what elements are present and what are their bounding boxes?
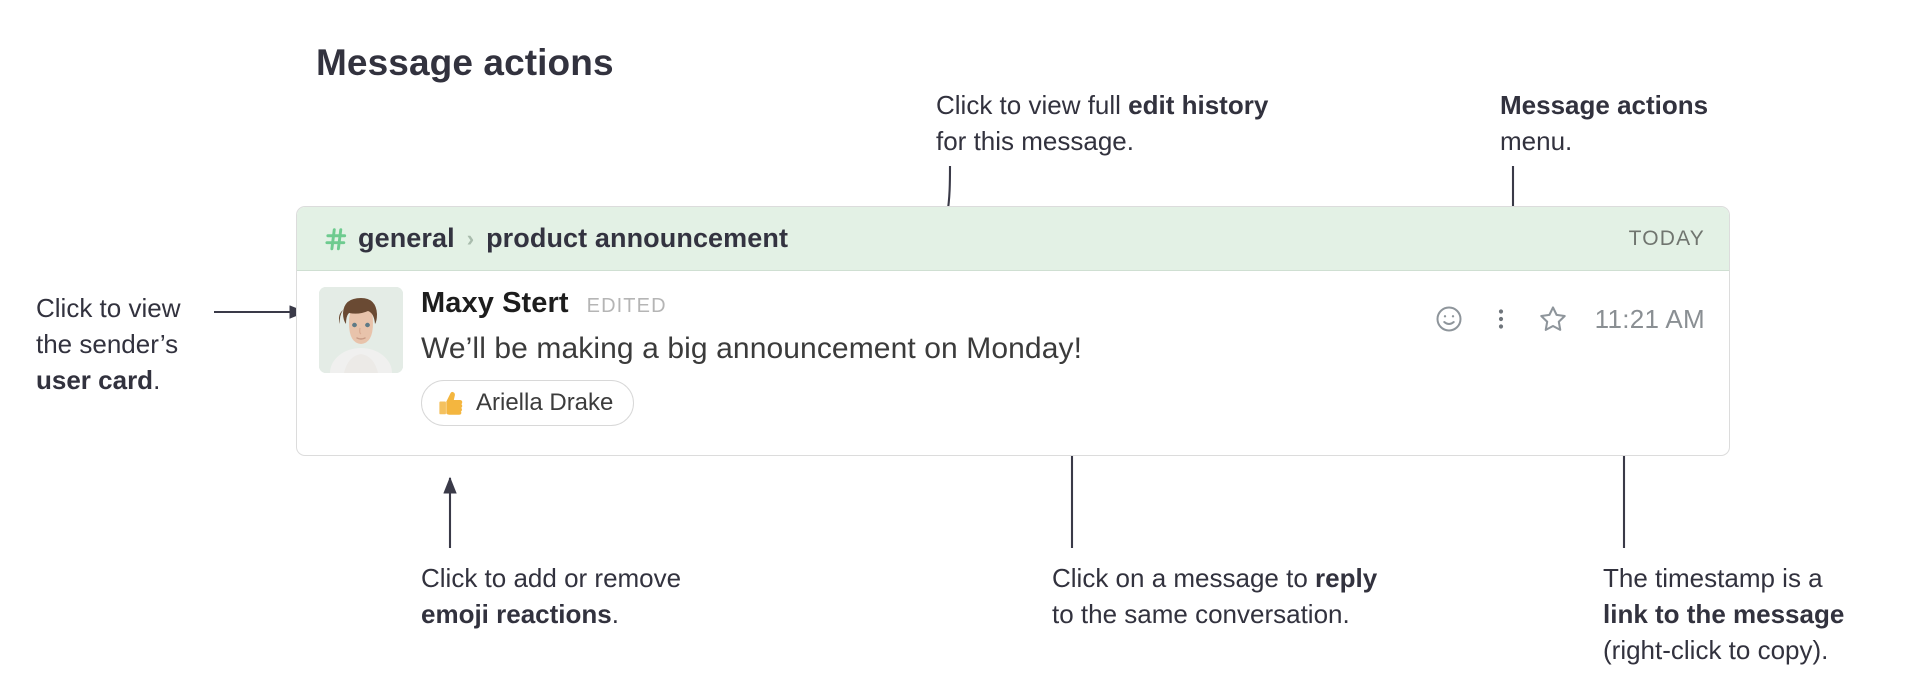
annotation-emoji-reactions: Click to add or remove emoji reactions.: [421, 560, 681, 632]
annotation-reply-line2: to the same conversation.: [1052, 596, 1377, 632]
annotation-timestamp-line2-bold: link to the message: [1603, 599, 1844, 629]
annotation-edit-history-line1-pre: Click to view full: [936, 90, 1128, 120]
star-outline-icon[interactable]: [1527, 297, 1579, 341]
annotation-timestamp: The timestamp is a link to the message (…: [1603, 560, 1844, 668]
vertical-ellipsis-icon[interactable]: [1475, 297, 1527, 341]
breadcrumb-separator-icon: ›: [467, 226, 474, 252]
illustration-canvas: Message actions Click to view full edit …: [0, 0, 1924, 696]
reaction-pill[interactable]: Ariella Drake: [421, 380, 634, 426]
message-row[interactable]: Maxy Stert EDITED We’ll be making a big …: [297, 271, 1729, 426]
annotation-user-card-line2: the sender’s: [36, 326, 180, 362]
reaction-row: Ariella Drake: [421, 380, 1705, 426]
annotation-emoji-line1: Click to add or remove: [421, 560, 681, 596]
annotation-reply-line1-pre: Click on a message to: [1052, 563, 1315, 593]
page-title: Message actions: [316, 42, 614, 84]
date-label: TODAY: [1629, 227, 1705, 251]
edited-badge[interactable]: EDITED: [587, 295, 667, 318]
annotation-reply-line1-bold: reply: [1315, 563, 1377, 593]
breadcrumb-channel[interactable]: general: [358, 223, 455, 254]
avatar-image: [319, 287, 403, 373]
annotation-timestamp-line1: The timestamp is a: [1603, 560, 1844, 596]
annotation-user-card-line3-post: .: [153, 365, 160, 395]
reaction-user-name: Ariella Drake: [476, 389, 613, 417]
avatar[interactable]: [319, 287, 403, 373]
emoji-smiley-icon[interactable]: [1423, 297, 1475, 341]
annotation-edit-history: Click to view full edit history for this…: [936, 87, 1268, 159]
annotation-user-card: Click to view the sender’s user card.: [36, 290, 180, 398]
annotation-emoji-line2-bold: emoji reactions: [421, 599, 612, 629]
annotation-user-card-line3-bold: user card: [36, 365, 153, 395]
annotation-edit-history-line1-bold: edit history: [1128, 90, 1268, 120]
message-card: general › product announcement TODAY: [296, 206, 1730, 456]
message-actions: 11:21 AM: [1423, 297, 1705, 341]
sender-name[interactable]: Maxy Stert: [421, 287, 569, 320]
annotation-edit-history-line2: for this message.: [936, 123, 1268, 159]
annotation-reply: Click on a message to reply to the same …: [1052, 560, 1377, 632]
channel-header: general › product announcement TODAY: [297, 207, 1729, 271]
hash-icon: [323, 226, 349, 252]
thumbs-up-icon: [436, 388, 466, 418]
annotation-actions-menu-line1-bold: Message actions: [1500, 90, 1708, 120]
message-timestamp[interactable]: 11:21 AM: [1595, 304, 1705, 335]
annotation-emoji-line2-post: .: [612, 599, 619, 629]
annotation-actions-menu: Message actions menu.: [1500, 87, 1708, 159]
annotation-user-card-line1: Click to view: [36, 290, 180, 326]
annotation-actions-menu-line2: menu.: [1500, 123, 1708, 159]
breadcrumb-topic[interactable]: product announcement: [486, 223, 788, 254]
annotation-timestamp-line3: (right-click to copy).: [1603, 632, 1844, 668]
